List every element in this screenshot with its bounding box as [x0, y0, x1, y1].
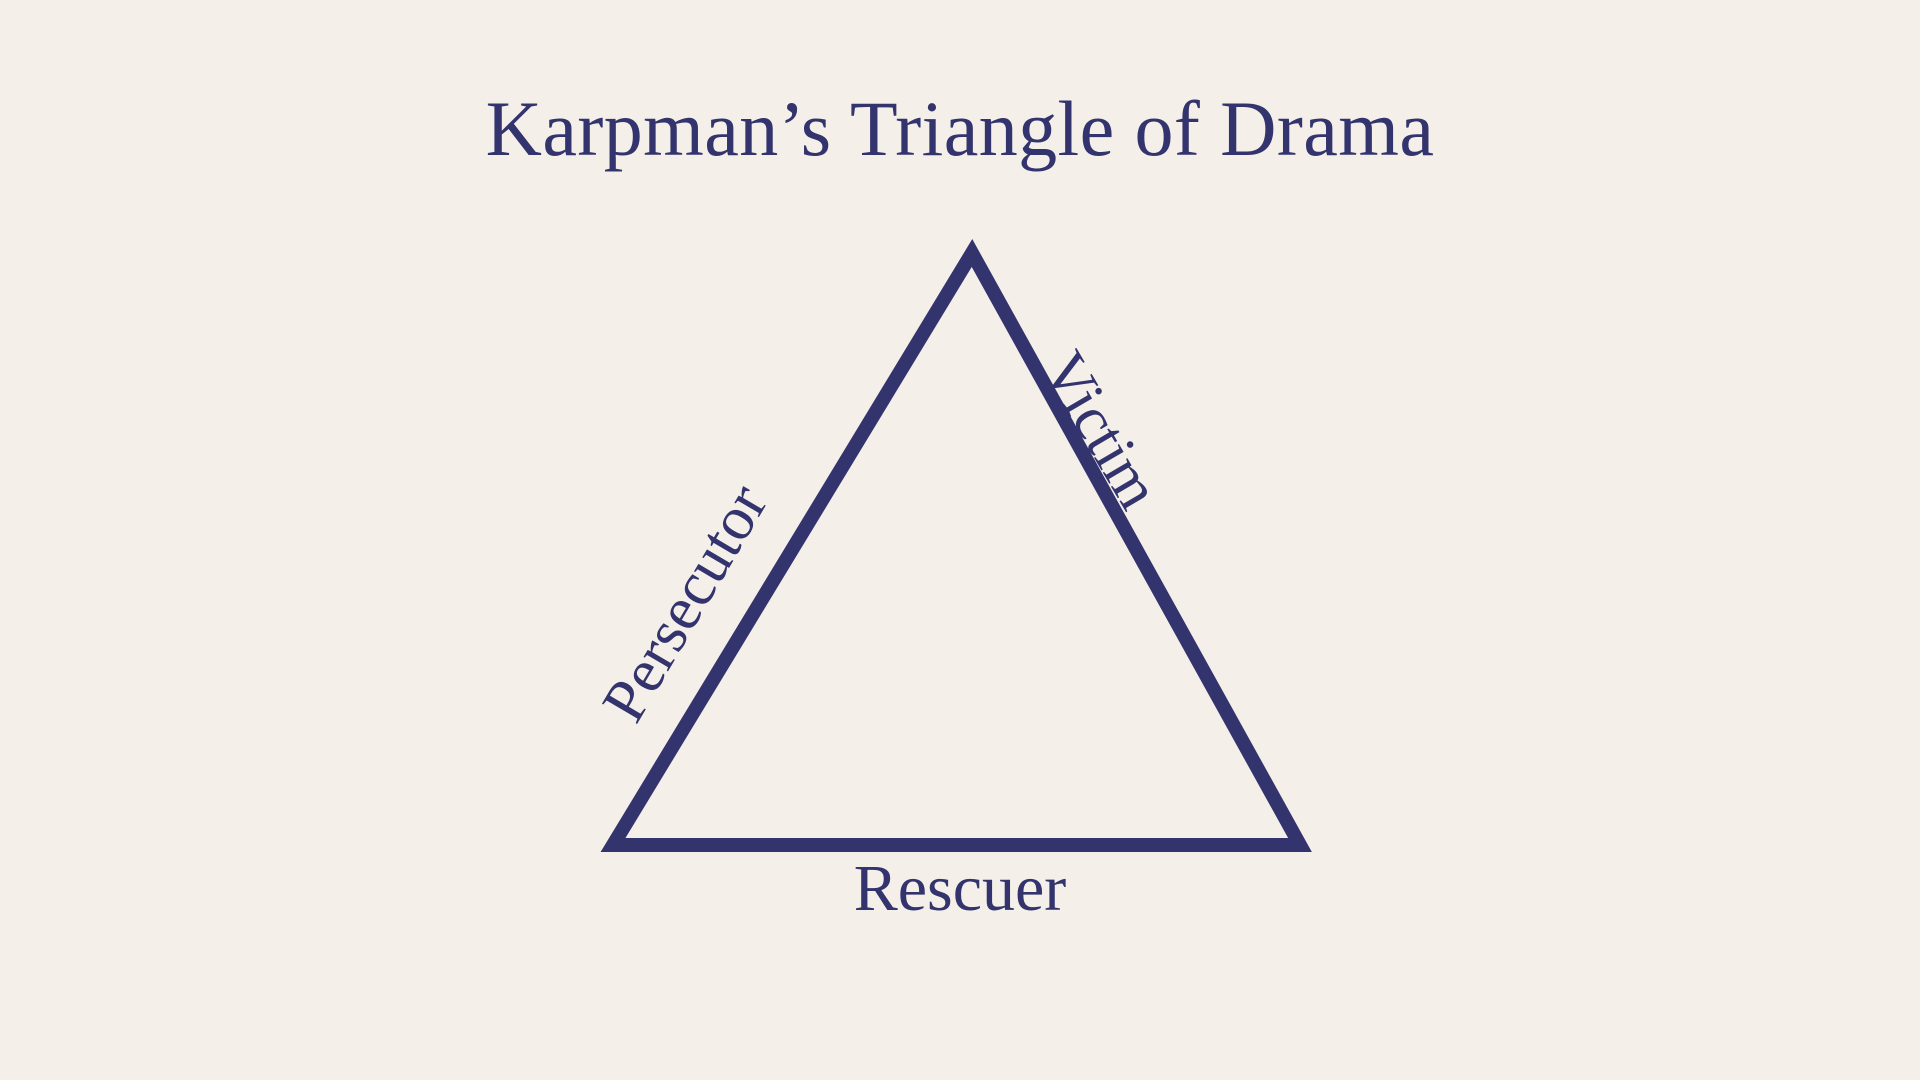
role-label-rescuer: Rescuer	[0, 856, 1920, 922]
diagram-canvas: Karpman’s Triangle of Drama Persecutor V…	[0, 0, 1920, 1080]
